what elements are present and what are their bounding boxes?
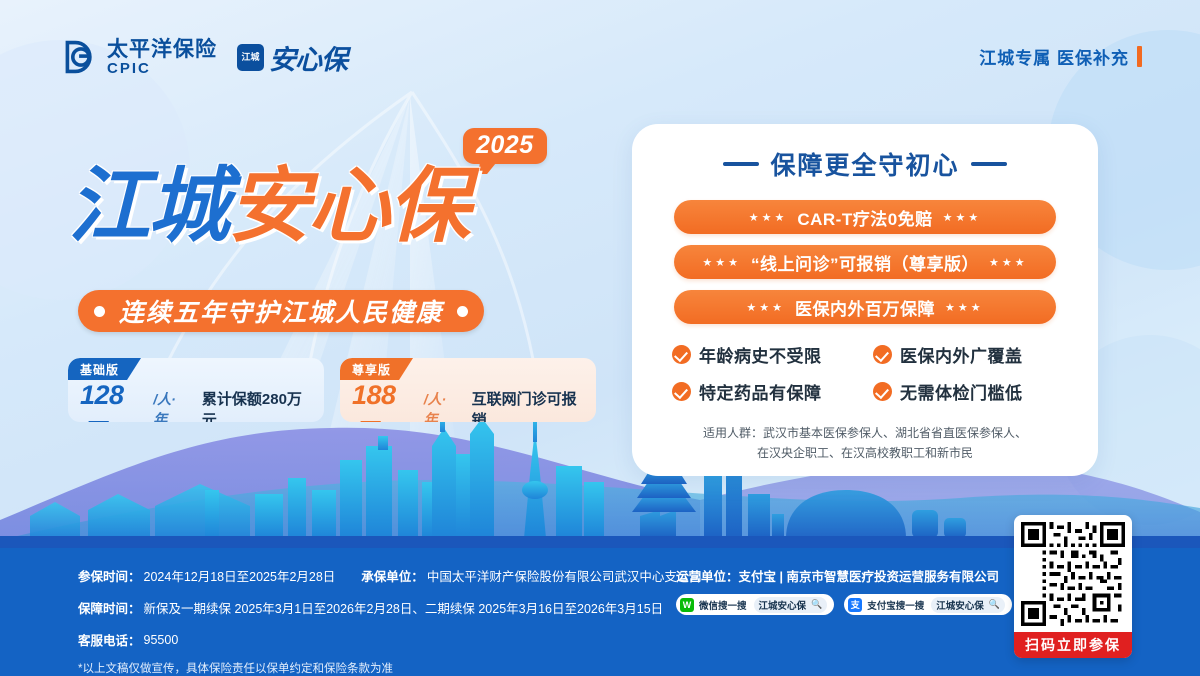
slogan-dot-right-icon [457, 306, 468, 317]
plan-badge-premium: 尊享版 [340, 358, 413, 380]
search-keyword-1: 江城安心保 [936, 598, 984, 612]
search-badge-app-0: 微信搜一搜 [699, 598, 747, 612]
search-icon: 🔍 [811, 599, 822, 610]
search-badge-alipay[interactable]: 支 支付宝搜一搜 江城安心保 🔍 [844, 594, 1012, 615]
benefit-check-item: 特定药品有保障 [672, 379, 859, 404]
stars-left-icon: ★★★ [702, 256, 741, 269]
product-logo-text: 安心保 [269, 38, 347, 77]
operator-value: 支付宝 | 南京市智慧医疗投资运营服务有限公司 [739, 570, 999, 584]
audience-line-2: 在汉央企职工、在汉高校教职工和新市民 [658, 444, 1072, 464]
highlight-label-1: “线上问诊”可报销（尊享版） [751, 250, 979, 275]
benefit-check-label-0: 年龄病史不受限 [699, 342, 822, 367]
plan-price-line-premium: 188元 /人·年 互联网门诊可报销 [352, 380, 586, 422]
cpic-name-en: CPIC [107, 61, 217, 77]
plan-card-basic[interactable]: 基础版 128元 /人·年 累计保额280万元 [68, 358, 324, 422]
stars-right-icon: ★★★ [945, 301, 984, 314]
header-accent-bar [1137, 46, 1142, 67]
plan-note-premium: 互联网门诊可报销 [472, 388, 586, 422]
hero-title-blue: 江城 [68, 159, 228, 254]
poster-header: 太平洋保险 CPIC 江城 安心保 江城专属 医保补充 [0, 38, 1200, 84]
footer-row-service: 客服电话： 95500 [78, 630, 702, 649]
plan-unit-basic: /人·年 [153, 389, 189, 422]
plan-amount-basic: 128元 [80, 380, 148, 422]
benefit-check-label-1: 医保内外广覆盖 [900, 342, 1023, 367]
highlight-pill-1[interactable]: ★★★ “线上问诊”可报销（尊享版） ★★★ [674, 245, 1056, 279]
hero-title-orange: 安心保 [228, 159, 468, 254]
enroll-time-value: 2024年12月18日至2025年2月28日 [144, 566, 336, 585]
benefits-heading: 保障更全守初心 [658, 146, 1072, 182]
check-circle-icon [873, 382, 892, 401]
underwriter-value: 中国太平洋财产保险股份有限公司武汉中心支公司 [427, 566, 702, 585]
highlight-pill-0[interactable]: ★★★ CAR-T疗法0免赔 ★★★ [674, 200, 1056, 234]
stars-right-icon: ★★★ [943, 211, 982, 224]
brand-lockup: 太平洋保险 CPIC 江城 安心保 [62, 38, 347, 77]
product-logo: 江城 安心保 [237, 38, 347, 77]
service-phone-label: 客服电话： [78, 630, 141, 649]
footer-row-enroll: 参保时间： 2024年12月18日至2025年2月28日 承保单位： 中国太平洋… [78, 566, 702, 585]
coverage-time-value: 新保及一期续保 2025年3月1日至2026年2月28日、二期续保 2025年3… [144, 598, 664, 617]
check-circle-icon [672, 382, 691, 401]
slogan-dot-left-icon [94, 306, 105, 317]
plan-note-basic: 累计保额280万元 [202, 388, 314, 422]
plan-unit-premium: /人·年 [424, 389, 459, 422]
audience-line-1: 适用人群：武汉市基本医保参保人、湖北省省直医保参保人、 [658, 424, 1072, 444]
stars-left-icon: ★★★ [749, 211, 788, 224]
search-field-wechat[interactable]: 江城安心保 🔍 [754, 597, 828, 613]
qr-cta-label[interactable]: 扫码立即参保 [1014, 632, 1132, 658]
header-tagline: 江城专属 医保补充 [979, 44, 1142, 69]
footer-row-coverage: 保障时间： 新保及一期续保 2025年3月1日至2026年2月28日、二期续保 … [78, 598, 702, 617]
highlight-label-2: 医保内外百万保障 [795, 295, 935, 320]
year-badge: 2025 [463, 128, 547, 164]
highlight-label-0: CAR-T疗法0免赔 [797, 205, 932, 230]
search-icon: 🔍 [989, 599, 1000, 610]
qr-code-box[interactable]: 扫码立即参保 [1014, 515, 1132, 658]
benefit-check-item: 年龄病史不受限 [672, 342, 859, 367]
operator-label: 运营单位： [676, 570, 739, 584]
hero-title: 江城安心保 [68, 166, 468, 248]
benefit-check-item: 无需体检门槛低 [873, 379, 1060, 404]
check-circle-icon [672, 345, 691, 364]
qr-code-icon [1021, 522, 1125, 626]
search-badge-app-1: 支付宝搜一搜 [867, 598, 924, 612]
stars-left-icon: ★★★ [746, 301, 785, 314]
search-badge-list: W 微信搜一搜 江城安心保 🔍 支 支付宝搜一搜 江城安心保 🔍 [676, 594, 1012, 615]
cpic-wordmark: 太平洋保险 CPIC [107, 39, 217, 77]
product-seal-icon: 江城 [237, 44, 264, 71]
header-tagline-text: 江城专属 医保补充 [979, 44, 1129, 69]
benefit-check-list: 年龄病史不受限 医保内外广覆盖 特定药品有保障 无需体检门槛低 [672, 342, 1060, 404]
operator-line: 运营单位：支付宝 | 南京市智慧医疗投资运营服务有限公司 [676, 566, 1012, 585]
footer-info-right: 运营单位：支付宝 | 南京市智慧医疗投资运营服务有限公司 W 微信搜一搜 江城安… [676, 566, 1012, 615]
hero-slogan-text: 连续五年守护江城人民健康 [119, 293, 443, 329]
search-keyword-0: 江城安心保 [759, 598, 807, 612]
service-phone-value: 95500 [144, 633, 179, 647]
benefit-check-label-2: 特定药品有保障 [699, 379, 822, 404]
search-field-alipay[interactable]: 江城安心保 🔍 [931, 597, 1005, 613]
plan-card-list: 基础版 128元 /人·年 累计保额280万元 尊享版 188元 /人·年 互联… [68, 358, 596, 422]
stars-right-icon: ★★★ [989, 256, 1028, 269]
plan-badge-basic: 基础版 [68, 358, 141, 380]
audience-note: 适用人群：武汉市基本医保参保人、湖北省省直医保参保人、 在汉央企职工、在汉高校教… [658, 424, 1072, 464]
cpic-logo: 太平洋保险 CPIC [62, 39, 217, 77]
wechat-icon: W [680, 598, 694, 612]
search-badge-wechat[interactable]: W 微信搜一搜 江城安心保 🔍 [676, 594, 834, 615]
cpic-name-cn: 太平洋保险 [107, 39, 217, 61]
footer-info-left: 参保时间： 2024年12月18日至2025年2月28日 承保单位： 中国太平洋… [78, 566, 702, 676]
alipay-icon: 支 [848, 598, 862, 612]
heading-rule-right-icon [971, 162, 1007, 166]
hero-slogan-pill: 连续五年守护江城人民健康 [78, 290, 484, 332]
heading-rule-left-icon [723, 162, 759, 166]
underwriter-label: 承保单位： [361, 566, 424, 585]
highlight-pill-2[interactable]: ★★★ 医保内外百万保障 ★★★ [674, 290, 1056, 324]
benefits-heading-text: 保障更全守初心 [770, 146, 959, 182]
footer-disclaimer: *以上文稿仅做宣传，具体保险责任以保单约定和保险条款为准 [78, 660, 702, 676]
poster-root: 太平洋保险 CPIC 江城 安心保 江城专属 医保补充 2025 江城安心保 连… [0, 0, 1200, 676]
plan-card-premium[interactable]: 尊享版 188元 /人·年 互联网门诊可报销 [340, 358, 596, 422]
benefits-panel: 保障更全守初心 ★★★ CAR-T疗法0免赔 ★★★ ★★★ “线上问诊”可报销… [632, 124, 1098, 476]
check-circle-icon [873, 345, 892, 364]
benefit-check-label-3: 无需体检门槛低 [900, 379, 1023, 404]
enroll-time-label: 参保时间： [78, 566, 141, 585]
plan-amount-premium: 188元 [352, 380, 419, 422]
plan-price-line-basic: 128元 /人·年 累计保额280万元 [80, 380, 314, 422]
cpic-logo-icon [62, 39, 98, 75]
coverage-time-label: 保障时间： [78, 598, 141, 617]
benefit-check-item: 医保内外广覆盖 [873, 342, 1060, 367]
